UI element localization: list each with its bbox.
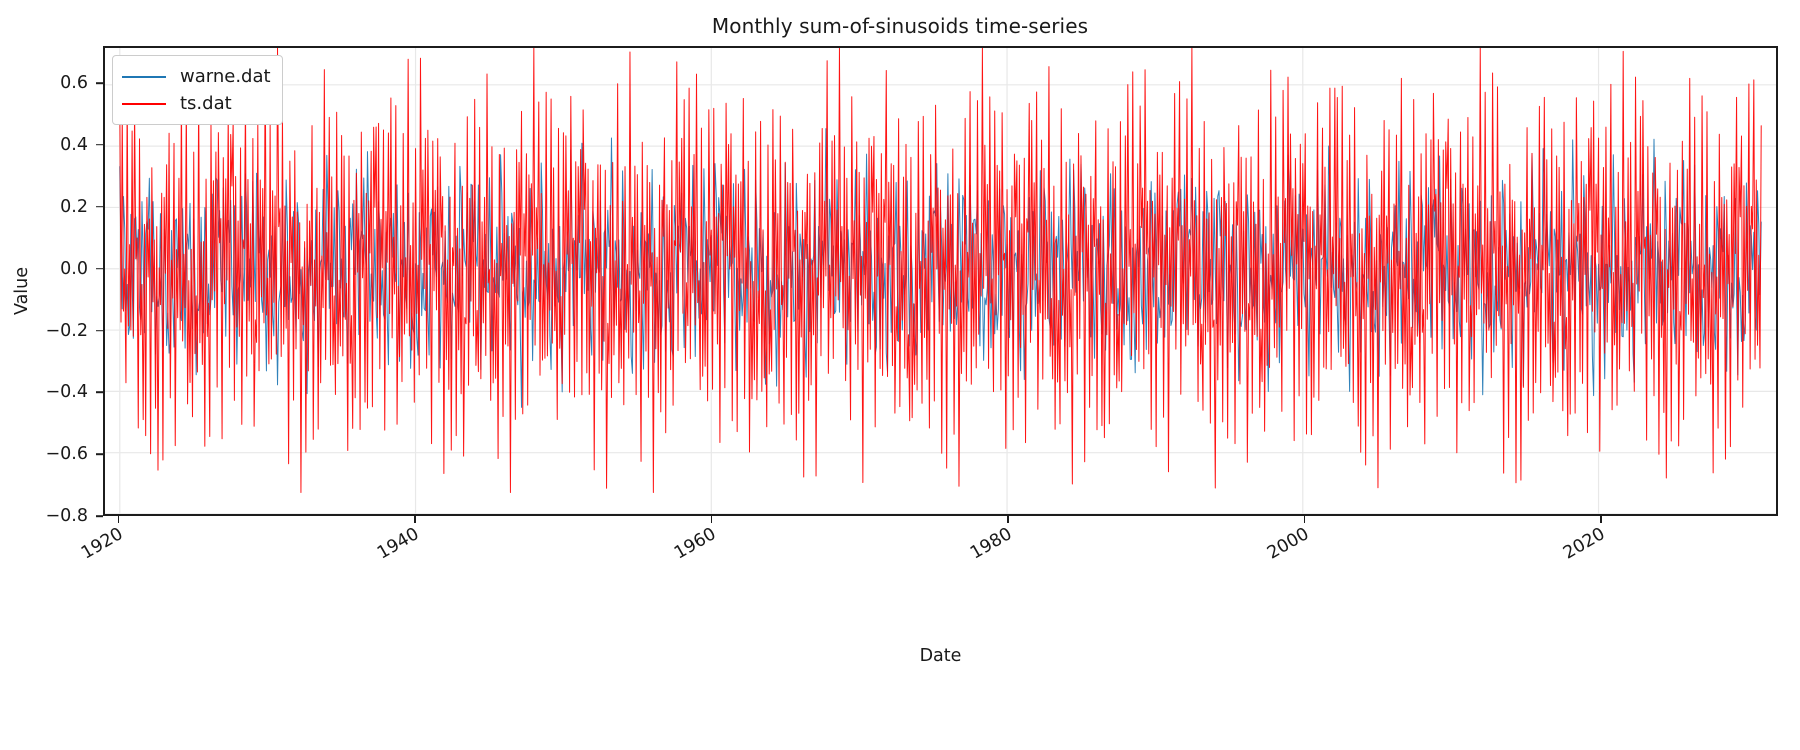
legend-label-ts: ts.dat (180, 93, 232, 114)
x-tick-mark (1304, 516, 1306, 523)
plot-area (103, 46, 1778, 516)
y-tick-label: −0.6 (46, 444, 89, 464)
y-tick-mark (96, 392, 103, 394)
x-tick-mark (711, 516, 713, 523)
legend-swatch-warne (122, 76, 166, 78)
x-tick-label: 1960 (671, 524, 720, 564)
y-tick-mark (96, 268, 103, 270)
y-tick-mark (96, 144, 103, 146)
x-tick-mark (1007, 516, 1009, 523)
legend: warne.dat ts.dat (112, 55, 283, 125)
chart-figure: Monthly sum-of-sinusoids time-series Val… (0, 0, 1800, 750)
y-tick-mark (96, 82, 103, 84)
y-tick-mark (96, 515, 103, 517)
y-tick-mark (96, 206, 103, 208)
x-axis-label: Date (103, 646, 1778, 666)
y-tick-label: 0.2 (60, 197, 88, 217)
legend-item-ts[interactable]: ts.dat (122, 90, 271, 117)
y-tick-label: −0.4 (46, 382, 89, 402)
chart-title: Monthly sum-of-sinusoids time-series (0, 14, 1800, 38)
legend-item-warne[interactable]: warne.dat (122, 63, 271, 90)
y-tick-label: 0.6 (60, 73, 88, 93)
x-tick-label: 2000 (1264, 524, 1313, 564)
y-tick-label: 0.4 (60, 135, 88, 155)
x-tick-label: 2020 (1560, 524, 1609, 564)
y-axis-label: Value (12, 267, 32, 315)
x-tick-label: 1980 (967, 524, 1016, 564)
y-tick-label: −0.2 (46, 321, 89, 341)
x-tick-mark (414, 516, 416, 523)
x-tick-label: 1940 (374, 524, 423, 564)
y-tick-label: −0.8 (46, 506, 89, 526)
x-tick-mark (1600, 516, 1602, 523)
legend-swatch-ts (122, 103, 166, 105)
x-tick-mark (118, 516, 120, 523)
series-lines (105, 48, 1776, 514)
x-tick-label: 1920 (78, 524, 127, 564)
legend-label-warne: warne.dat (180, 66, 271, 87)
y-tick-mark (96, 453, 103, 455)
y-tick-label: 0.0 (60, 259, 88, 279)
y-tick-mark (96, 330, 103, 332)
